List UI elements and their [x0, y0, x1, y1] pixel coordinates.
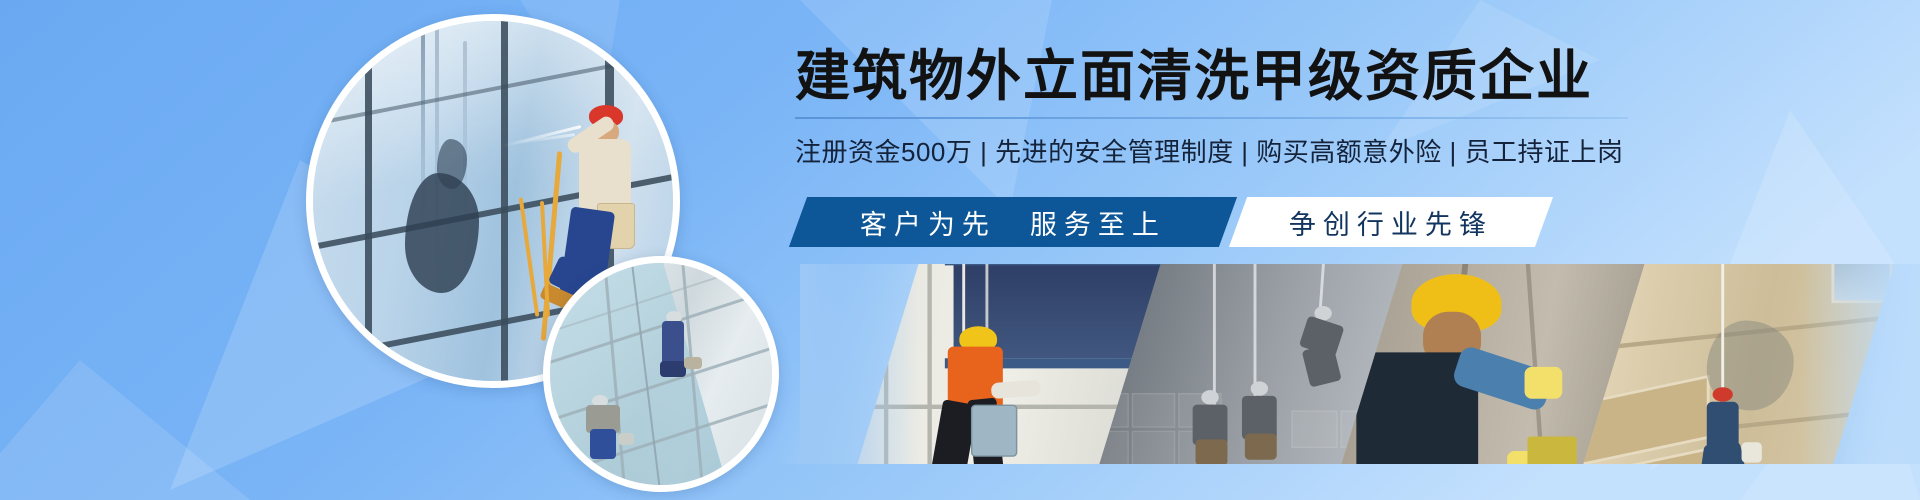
promotional-banner: 建筑物外立面清洗甲级资质企业 注册资金500万 | 先进的安全管理制度 | 购买…	[0, 0, 1920, 500]
slogan-primary-text: 客户为先 服务至上	[860, 203, 1166, 242]
photo-strip	[800, 264, 1920, 464]
slogan-bar: 客户为先 服务至上 争创行业先锋	[798, 197, 1558, 247]
photo-circle-small	[543, 256, 779, 492]
copy-block: 建筑物外立面清洗甲级资质企业 注册资金500万 | 先进的安全管理制度 | 购买…	[795, 48, 1810, 169]
title-divider	[795, 117, 1628, 119]
slogan-secondary-plate: 争创行业先锋	[1229, 197, 1553, 247]
white-facade-photo	[550, 263, 772, 485]
subtitle-features: 注册资金500万 | 先进的安全管理制度 | 购买高额意外险 | 员工持证上岗	[795, 132, 1810, 169]
page-title: 建筑物外立面清洗甲级资质企业	[795, 48, 1810, 106]
slogan-primary-plate: 客户为先 服务至上	[789, 197, 1237, 247]
slogan-secondary-text: 争创行业先锋	[1289, 203, 1493, 242]
